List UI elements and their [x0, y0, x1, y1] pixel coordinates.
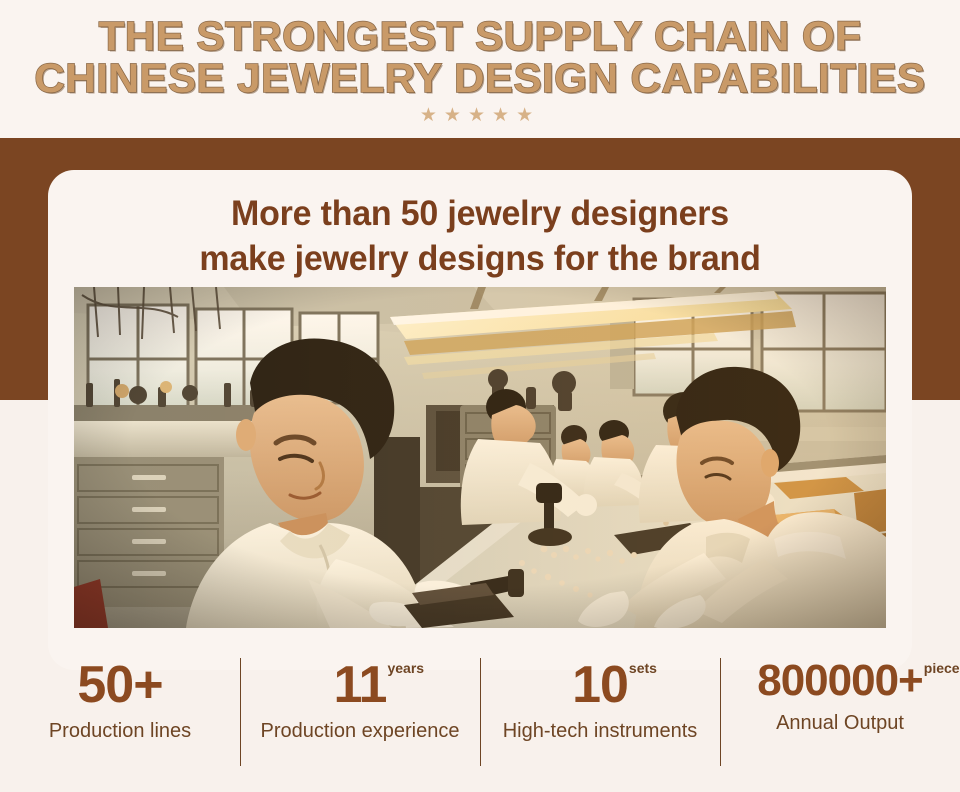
star-icon: ★	[420, 106, 444, 125]
card-headline-line-1: More than 50 jewelry designers	[61, 192, 899, 237]
stat-unit: years	[387, 661, 424, 675]
page-title-line-2: CHINESE JEWELRY DESIGN CAPABILITIES	[0, 58, 960, 100]
page-title: THE STRONGEST SUPPLY CHAIN OF CHINESE JE…	[0, 16, 960, 100]
card-headline: More than 50 jewelry designers make jewe…	[61, 192, 899, 282]
page-title-line-1: THE STRONGEST SUPPLY CHAIN OF	[0, 16, 960, 58]
stat-high-tech-instruments: 10 sets High-tech instruments	[480, 655, 720, 743]
stat-label: Production lines	[0, 719, 240, 743]
stats-row: 50+ Production lines 11 years Production…	[0, 655, 960, 775]
star-icon: ★	[444, 106, 468, 125]
star-icon: ★	[468, 106, 492, 125]
stat-number: 11 years	[334, 659, 387, 712]
stat-number-value: 800000+	[757, 656, 923, 705]
stat-number-value: 11	[334, 656, 387, 714]
header-banner: THE STRONGEST SUPPLY CHAIN OF CHINESE JE…	[0, 0, 960, 138]
star-icon: ★	[516, 106, 540, 125]
stat-label: High-tech instruments	[480, 719, 720, 743]
stat-number: 10 sets	[572, 659, 628, 712]
stat-production-lines: 50+ Production lines	[0, 655, 240, 743]
stat-number-value: 10	[572, 656, 628, 714]
stat-number: 800000+ pieces	[757, 659, 923, 704]
star-icon: ★	[492, 106, 516, 125]
card-headline-line-2: make jewelry designs for the brand	[61, 237, 899, 282]
stat-label: Annual Output	[720, 711, 960, 735]
infographic-root: THE STRONGEST SUPPLY CHAIN OF CHINESE JE…	[0, 0, 960, 792]
content-card: More than 50 jewelry designers make jewe…	[48, 170, 912, 670]
stat-unit: pieces	[924, 661, 960, 675]
workshop-photo	[74, 287, 886, 628]
stat-annual-output: 800000+ pieces Annual Output	[720, 655, 960, 735]
stat-production-experience: 11 years Production experience	[240, 655, 480, 743]
stat-label: Production experience	[240, 719, 480, 743]
star-rating: ★★★★★	[0, 106, 960, 125]
stat-number-value: 50+	[77, 656, 162, 714]
stat-unit: sets	[629, 661, 657, 675]
stat-number: 50+	[77, 659, 162, 712]
